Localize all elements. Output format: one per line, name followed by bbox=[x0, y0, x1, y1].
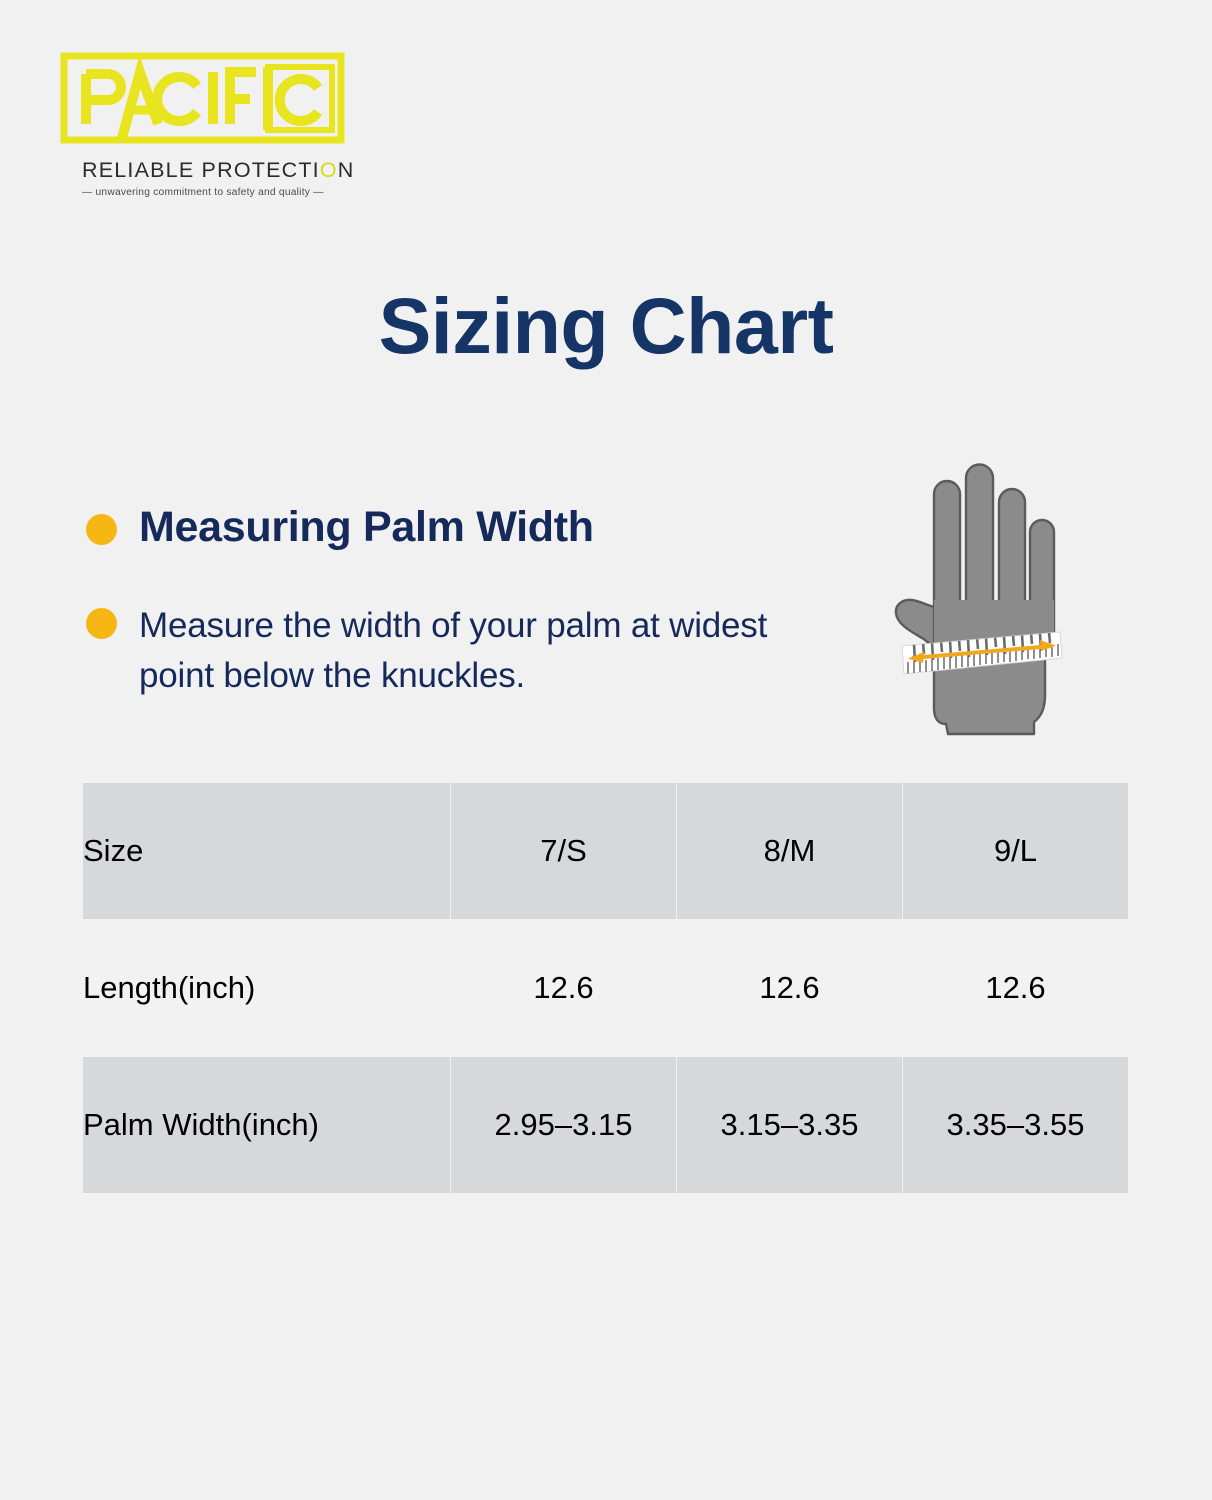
sizing-table: Size 7/S 8/M 9/L Length(inch) 12.6 12.6 … bbox=[82, 782, 1129, 1194]
instruction-body-text: Measure the width of your palm at widest… bbox=[139, 601, 839, 700]
bullet-dot-icon bbox=[86, 514, 117, 545]
table-header-row: Size 7/S 8/M 9/L bbox=[83, 783, 1129, 920]
logo-sub-tagline: — unwavering commitment to safety and qu… bbox=[60, 187, 345, 198]
instructions-list: Measuring Palm Width Measure the width o… bbox=[86, 505, 846, 701]
table-header-size-s: 7/S bbox=[451, 783, 677, 920]
logo-tagline-suffix: N bbox=[338, 158, 355, 182]
table-header-size-m: 8/M bbox=[677, 783, 903, 920]
logo-tagline-block: RELIABLE PROTECTION — unwavering commitm… bbox=[60, 160, 345, 198]
instruction-item-heading: Measuring Palm Width bbox=[86, 505, 846, 550]
pacific-wordmark-svg bbox=[60, 52, 345, 144]
page-title: Sizing Chart bbox=[0, 286, 1212, 365]
brand-logo: RELIABLE PROTECTION — unwavering commitm… bbox=[60, 52, 360, 198]
cell-palm-width-s: 2.95–3.15 bbox=[451, 1057, 677, 1194]
table-header-size-l: 9/L bbox=[903, 783, 1129, 920]
table-header-size: Size bbox=[83, 783, 451, 920]
logo-wordmark bbox=[60, 52, 345, 144]
row-label-length: Length(inch) bbox=[83, 920, 451, 1057]
instruction-heading-text: Measuring Palm Width bbox=[139, 505, 594, 550]
bullet-dot-icon bbox=[86, 608, 117, 639]
cell-length-m: 12.6 bbox=[677, 920, 903, 1057]
logo-tagline-highlight: O bbox=[320, 158, 338, 182]
hand-silhouette-icon bbox=[896, 465, 1054, 735]
instruction-item-body: Measure the width of your palm at widest… bbox=[86, 601, 846, 700]
cell-length-s: 12.6 bbox=[451, 920, 677, 1057]
cell-palm-width-l: 3.35–3.55 bbox=[903, 1057, 1129, 1194]
hand-illustration-svg bbox=[862, 450, 1082, 742]
cell-length-l: 12.6 bbox=[903, 920, 1129, 1057]
table-row: Palm Width(inch) 2.95–3.15 3.15–3.35 3.3… bbox=[83, 1057, 1129, 1194]
hand-measurement-illustration bbox=[862, 450, 1082, 742]
logo-tagline: RELIABLE PROTECTION bbox=[60, 160, 345, 182]
logo-tagline-prefix: RELIABLE PROTECTI bbox=[82, 158, 320, 182]
row-label-palm-width: Palm Width(inch) bbox=[83, 1057, 451, 1194]
table-row: Length(inch) 12.6 12.6 12.6 bbox=[83, 920, 1129, 1057]
cell-palm-width-m: 3.15–3.35 bbox=[677, 1057, 903, 1194]
